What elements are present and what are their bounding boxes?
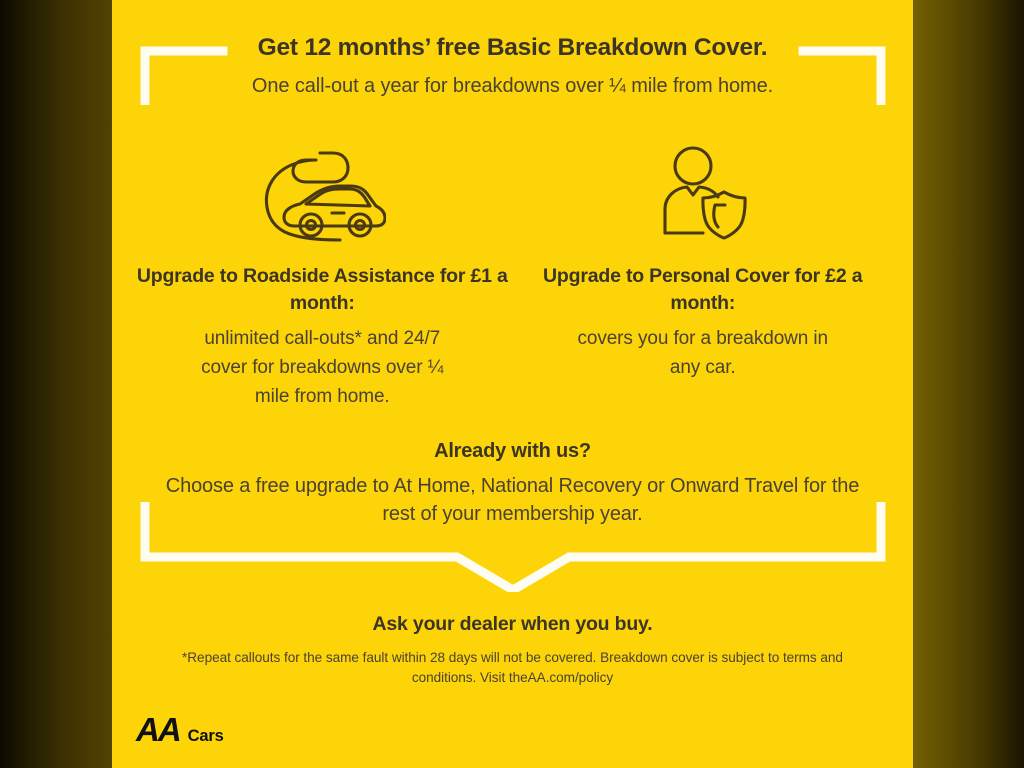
aa-logo-wordmark: Cars [188, 728, 224, 745]
fine-print-text: *Repeat callouts for the same fault with… [152, 648, 873, 689]
feature-body: unlimited call-outs* and 24/7 cover for … [132, 325, 513, 412]
feature-columns: Upgrade to Roadside Assistance for £1 a … [132, 140, 893, 411]
person-with-shield-icon [513, 140, 894, 245]
feature-heading: Upgrade to Roadside Assistance for £1 a … [132, 263, 513, 317]
header-block: Get 12 months’ free Basic Breakdown Cove… [112, 33, 913, 99]
aa-cars-logo: AA Cars [136, 713, 224, 746]
feature-roadside-assistance: Upgrade to Roadside Assistance for £1 a … [132, 140, 513, 411]
poster-panel: Get 12 months’ free Basic Breakdown Cove… [112, 0, 913, 768]
feature-body: covers you for a breakdown in any car. [513, 325, 894, 383]
already-with-us-body: Choose a free upgrade to At Home, Nation… [142, 472, 883, 529]
feature-heading: Upgrade to Personal Cover for £2 a month… [513, 263, 894, 317]
page-title: Get 12 months’ free Basic Breakdown Cove… [112, 33, 913, 62]
aa-logo-mark: AA [136, 713, 180, 746]
car-on-winding-road-icon [132, 140, 513, 245]
footer-block: Ask your dealer when you buy. *Repeat ca… [152, 613, 873, 689]
already-with-us-title: Already with us? [142, 440, 883, 463]
already-with-us-block: Already with us? Choose a free upgrade t… [142, 440, 883, 529]
poster-canvas: Get 12 months’ free Basic Breakdown Cove… [0, 0, 1024, 768]
feature-personal-cover: Upgrade to Personal Cover for £2 a month… [513, 140, 894, 383]
call-to-action-text: Ask your dealer when you buy. [152, 613, 873, 636]
page-subtitle: One call-out a year for breakdowns over … [112, 74, 913, 99]
